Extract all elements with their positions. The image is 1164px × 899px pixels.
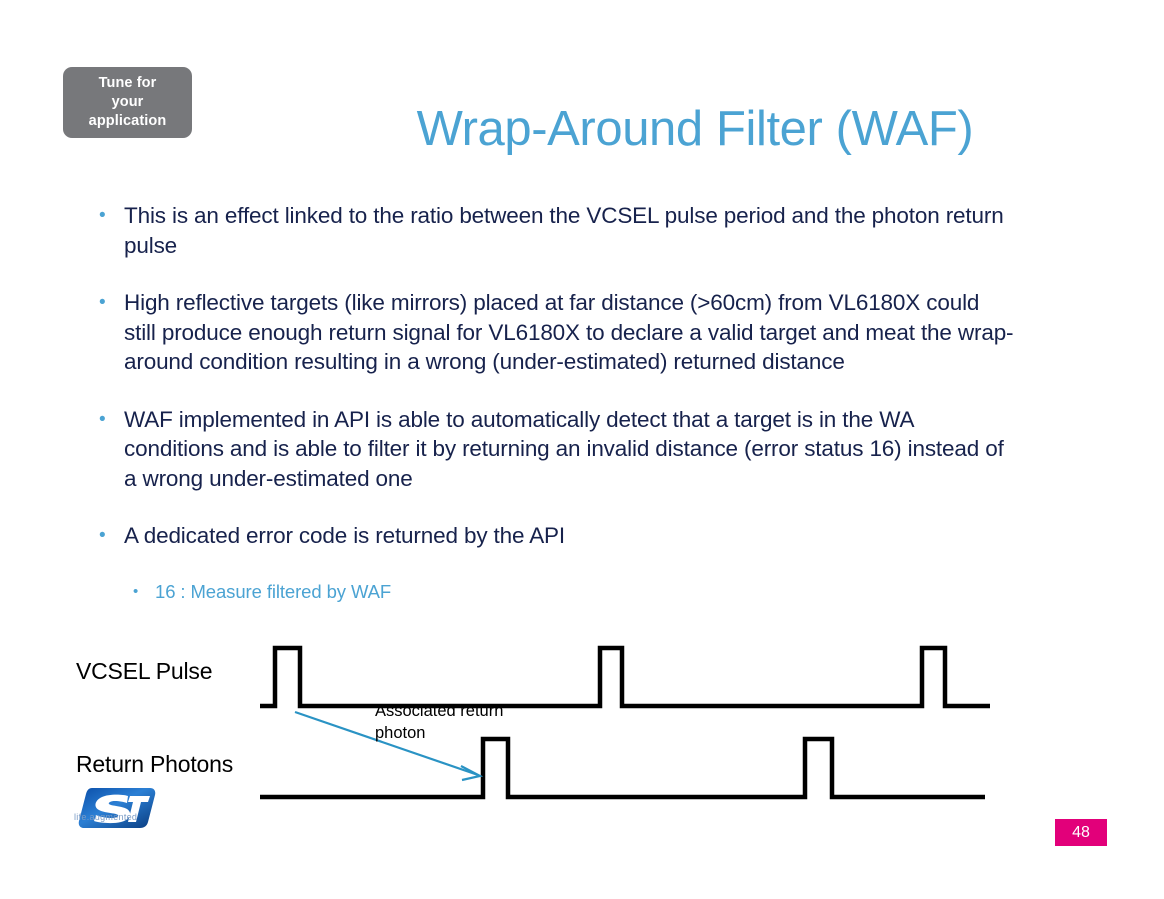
bullet-list: • This is an effect linked to the ratio … xyxy=(95,201,1015,605)
annotation-line-1: Associated return xyxy=(375,700,503,722)
return-photons-trace xyxy=(260,739,985,797)
return-photons-label: Return Photons xyxy=(76,751,233,778)
sub-bullet-marker-icon: • xyxy=(133,579,155,605)
tune-for-your-application-badge: Tune for your application xyxy=(63,67,192,138)
bullet-marker-icon: • xyxy=(95,201,124,231)
list-item: • High reflective targets (like mirrors)… xyxy=(95,288,1015,377)
bullet-text: This is an effect linked to the ratio be… xyxy=(124,201,1015,260)
bullet-text: WAF implemented in API is able to automa… xyxy=(124,405,1015,494)
vcsel-pulse-label: VCSEL Pulse xyxy=(76,658,212,685)
sub-bullet-text: 16 : Measure filtered by WAF xyxy=(155,579,391,605)
annotation-label: Associated return photon xyxy=(375,700,503,744)
page-number-badge: 48 xyxy=(1055,819,1107,846)
badge-line-3: application xyxy=(89,112,167,131)
sub-list-item: • 16 : Measure filtered by WAF xyxy=(133,579,1015,605)
list-item: • WAF implemented in API is able to auto… xyxy=(95,405,1015,494)
badge-line-2: your xyxy=(112,93,144,112)
list-item: • A dedicated error code is returned by … xyxy=(95,521,1015,605)
bullet-text: A dedicated error code is returned by th… xyxy=(124,521,565,551)
badge-line-1: Tune for xyxy=(99,74,157,93)
st-logo xyxy=(78,782,158,830)
list-item: • This is an effect linked to the ratio … xyxy=(95,201,1015,260)
annotation-line-2: photon xyxy=(375,722,503,744)
bullet-marker-icon: • xyxy=(95,405,124,435)
vcsel-pulse-trace xyxy=(260,648,990,706)
bullet-text: High reflective targets (like mirrors) p… xyxy=(124,288,1015,377)
page-title: Wrap-Around Filter (WAF) xyxy=(300,101,1090,157)
st-logo-tagline: life.augmented xyxy=(74,812,137,822)
list-item-main: • A dedicated error code is returned by … xyxy=(95,521,1015,551)
bullet-marker-icon: • xyxy=(95,521,124,551)
bullet-marker-icon: • xyxy=(95,288,124,318)
